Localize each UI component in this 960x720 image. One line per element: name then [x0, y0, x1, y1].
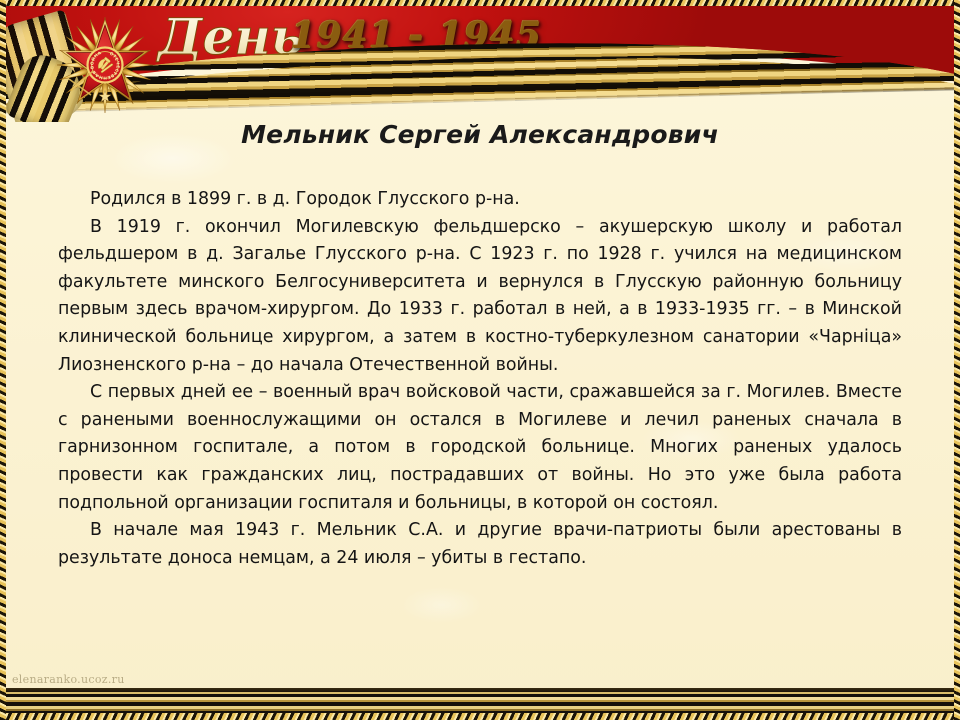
watermark: elenaranko.ucoz.ru	[12, 673, 125, 686]
slide-canvas: День Победы! 1941 - 1945	[0, 0, 960, 720]
frame-border-bottom	[0, 713, 960, 720]
footer-st-george-ribbon	[0, 692, 960, 714]
victory-day-banner: День Победы! 1941 - 1945	[0, 0, 960, 122]
page-title: Мельник Сергей Александрович	[0, 120, 960, 149]
order-of-the-patriotic-war-icon: ОТЕЧЕСТВЕННАЯ ВОЙНА	[52, 12, 158, 118]
paragraph-3: С первых дней ее – военный врач войсково…	[58, 379, 902, 517]
paragraph-4: В начале мая 1943 г. Мельник С.А. и друг…	[58, 517, 902, 572]
paragraph-2: В 1919 г. окончил Могилевскую фельдшерск…	[58, 214, 902, 380]
paragraph-1: Родился в 1899 г. в д. Городок Глусского…	[58, 186, 902, 214]
biography-text: Родился в 1899 г. в д. Городок Глусского…	[58, 186, 902, 572]
